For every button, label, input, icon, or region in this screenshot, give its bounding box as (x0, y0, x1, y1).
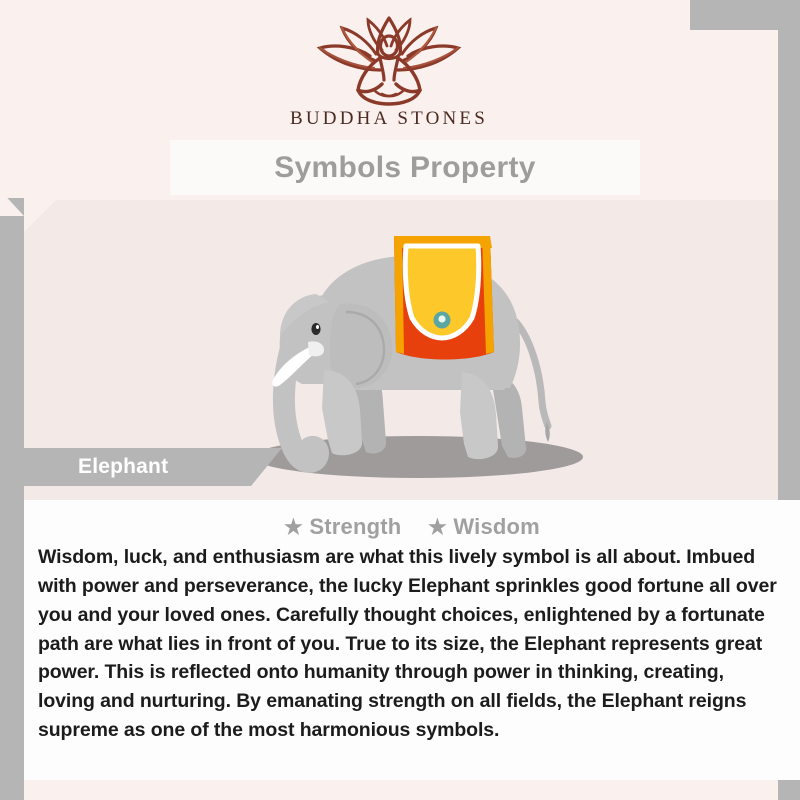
frame-rail-left (0, 198, 24, 800)
elephant-saddle-gem-highlight (438, 315, 445, 322)
elephant-eye-highlight (316, 325, 319, 329)
footer-strip (24, 780, 778, 800)
attribute-strength: Strength (309, 514, 401, 539)
attribute-list: ★ Strength ★ Wisdom (24, 500, 800, 540)
attribute-wisdom: Wisdom (453, 514, 540, 539)
star-icon: ★ (428, 516, 447, 539)
star-icon: ★ (284, 516, 303, 539)
description-text: Wisdom, luck, and enthusiasm are what th… (38, 543, 786, 745)
symbol-name-tag: Elephant (24, 448, 282, 486)
symbol-name: Elephant (78, 455, 168, 479)
brand-name: BUDDHA STONES (0, 108, 778, 130)
symbol-property-card: BUDDHA STONES Symbols Property (0, 0, 800, 800)
elephant-illustration (190, 212, 630, 487)
lotus-meditation-icon (304, 14, 474, 106)
page-title: Symbols Property (274, 151, 536, 185)
title-banner: Symbols Property (170, 140, 640, 195)
elephant-eye (311, 323, 320, 335)
brand-logo: BUDDHA STONES (0, 14, 778, 130)
description-panel: ★ Strength ★ Wisdom Wisdom, luck, and en… (24, 500, 800, 780)
